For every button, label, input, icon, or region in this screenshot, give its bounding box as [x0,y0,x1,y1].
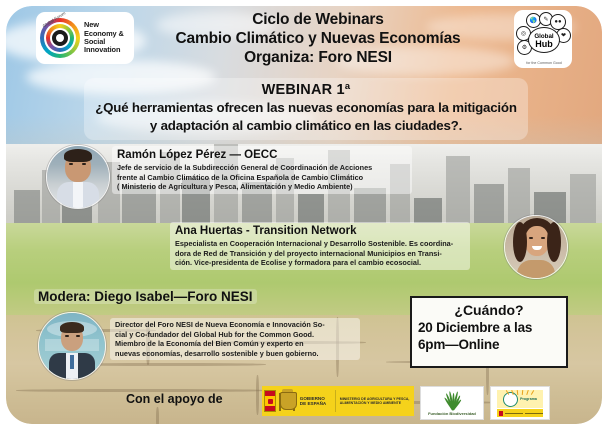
spain-coat-of-arms-icon [278,389,296,413]
sponsor-divider [335,390,336,412]
global-hub-logo: 🌎 ✎ ●● ◎ ❤ ⚙ Global Hub for the Common G… [514,10,572,68]
when-time: 6pm—Online [418,336,560,353]
moderator-bio-line-1: Director del Foro NESI de Nueva Economía… [115,320,355,330]
support-label: Con el apoyo de [126,392,223,406]
speaker-2-bio: Especialista en Cooperación Internaciona… [175,239,465,268]
moderator-block: Director del Foro NESI de Nueva Economía… [110,318,360,360]
speaker-2-bio-line-3: ción. Vice-presidenta de Ecolise y forma… [175,258,465,268]
speaker-2-block: Ana Huertas - Transition Network Especia… [170,222,470,270]
sun-program-title: Programa [520,397,537,401]
header-line-1: Ciclo de Webinars [140,10,496,29]
grass-plant-icon [432,390,472,410]
speaker-1-bio-line-2: frente al Cambio Climático de la Oficina… [117,173,407,183]
speaker-2-avatar [504,215,568,279]
header-line-3: Organiza: Foro NESI [140,48,496,67]
webinar-title-panel: WEBINAR 1ª ¿Qué herramientas ofrecen las… [84,78,528,140]
speaker-1-block: Ramón López Pérez — OECC Jefe de servici… [112,146,412,194]
sun-program-logo: Programa [490,386,550,420]
webinar-poster: Global Forum New Economy & Social Innova… [0,0,608,430]
fundacion-biodiversidad-title: Fundación Biodiversidad [428,411,476,416]
moderator-avatar [38,312,106,380]
nesi-logo: Global Forum New Economy & Social Innova… [36,12,134,64]
speaker-2-bio-line-2: dora de Red de Transición y del proyecto… [175,249,465,259]
speaker-1-name: Ramón López Pérez — OECC [117,148,407,162]
moderator-bio-line-4: nuevas economías, desarrollo sostenible … [115,349,355,359]
global-hub-word-hub: Hub [535,40,553,48]
global-hub-wordmark: Global Hub [528,27,560,53]
speaker-1-avatar [46,145,110,209]
when-date: 20 Diciembre a las [418,319,560,336]
nesi-wordmark: New Economy & Social Innovation [84,21,124,55]
moderator-title: Modera: Diego Isabel—Foro NESI [34,289,257,304]
speaker-1-bio-line-1: Jefe de servicio de la Subdirección Gene… [117,163,407,173]
speaker-2-bio-line-1: Especialista en Cooperación Internaciona… [175,239,465,249]
ministerio-subtitle: MINISTERIO DE AGRICULTURA Y PESCA, ALIME… [340,397,412,406]
speaker-1-bio-line-3: ( Ministerio de Agricultura y Pesca, Ali… [117,182,407,192]
sponsor-bottom-bar [497,409,543,417]
global-hub-tagline: for the Common Good [523,61,565,65]
speaker-2-name: Ana Huertas - Transition Network [175,224,465,238]
sponsor-logos-row: GOBIERNO DE ESPAÑA MINISTERIO DE AGRICUL… [262,386,550,420]
fundacion-biodiversidad-logo: Fundación Biodiversidad [420,386,484,420]
moderator-bio-line-2: cial y Co-fundador del Global Hub for th… [115,330,355,340]
sun-rays-icon: Programa [497,390,543,408]
when-question: ¿Cuándo? [418,302,560,319]
nesi-word-innovation: Innovation [84,46,124,54]
webinar-number: WEBINAR 1ª [90,82,522,98]
header-line-2: Cambio Climático y Nuevas Economías [140,29,496,48]
gobierno-espana-logo: GOBIERNO DE ESPAÑA MINISTERIO DE AGRICUL… [262,386,414,416]
moderator-bio: Director del Foro NESI de Nueva Economía… [115,320,355,358]
webinar-question-line-2: y adaptación al cambio climático en las … [90,117,522,134]
spain-flag-icon [264,390,276,412]
webinar-question-line-1: ¿Qué herramientas ofrecen las nuevas eco… [90,99,522,116]
gobierno-espana-title: GOBIERNO DE ESPAÑA [300,396,331,407]
nesi-ring-icon: Global Forum [40,18,80,58]
when-info-box: ¿Cuándo? 20 Diciembre a las 6pm—Online [410,296,568,368]
poster-header-title: Ciclo de Webinars Cambio Climático y Nue… [140,10,496,67]
moderator-bio-line-3: Miembro de la Economía del Bien Común y … [115,339,355,349]
speaker-1-bio: Jefe de servicio de la Subdirección Gene… [117,163,407,192]
